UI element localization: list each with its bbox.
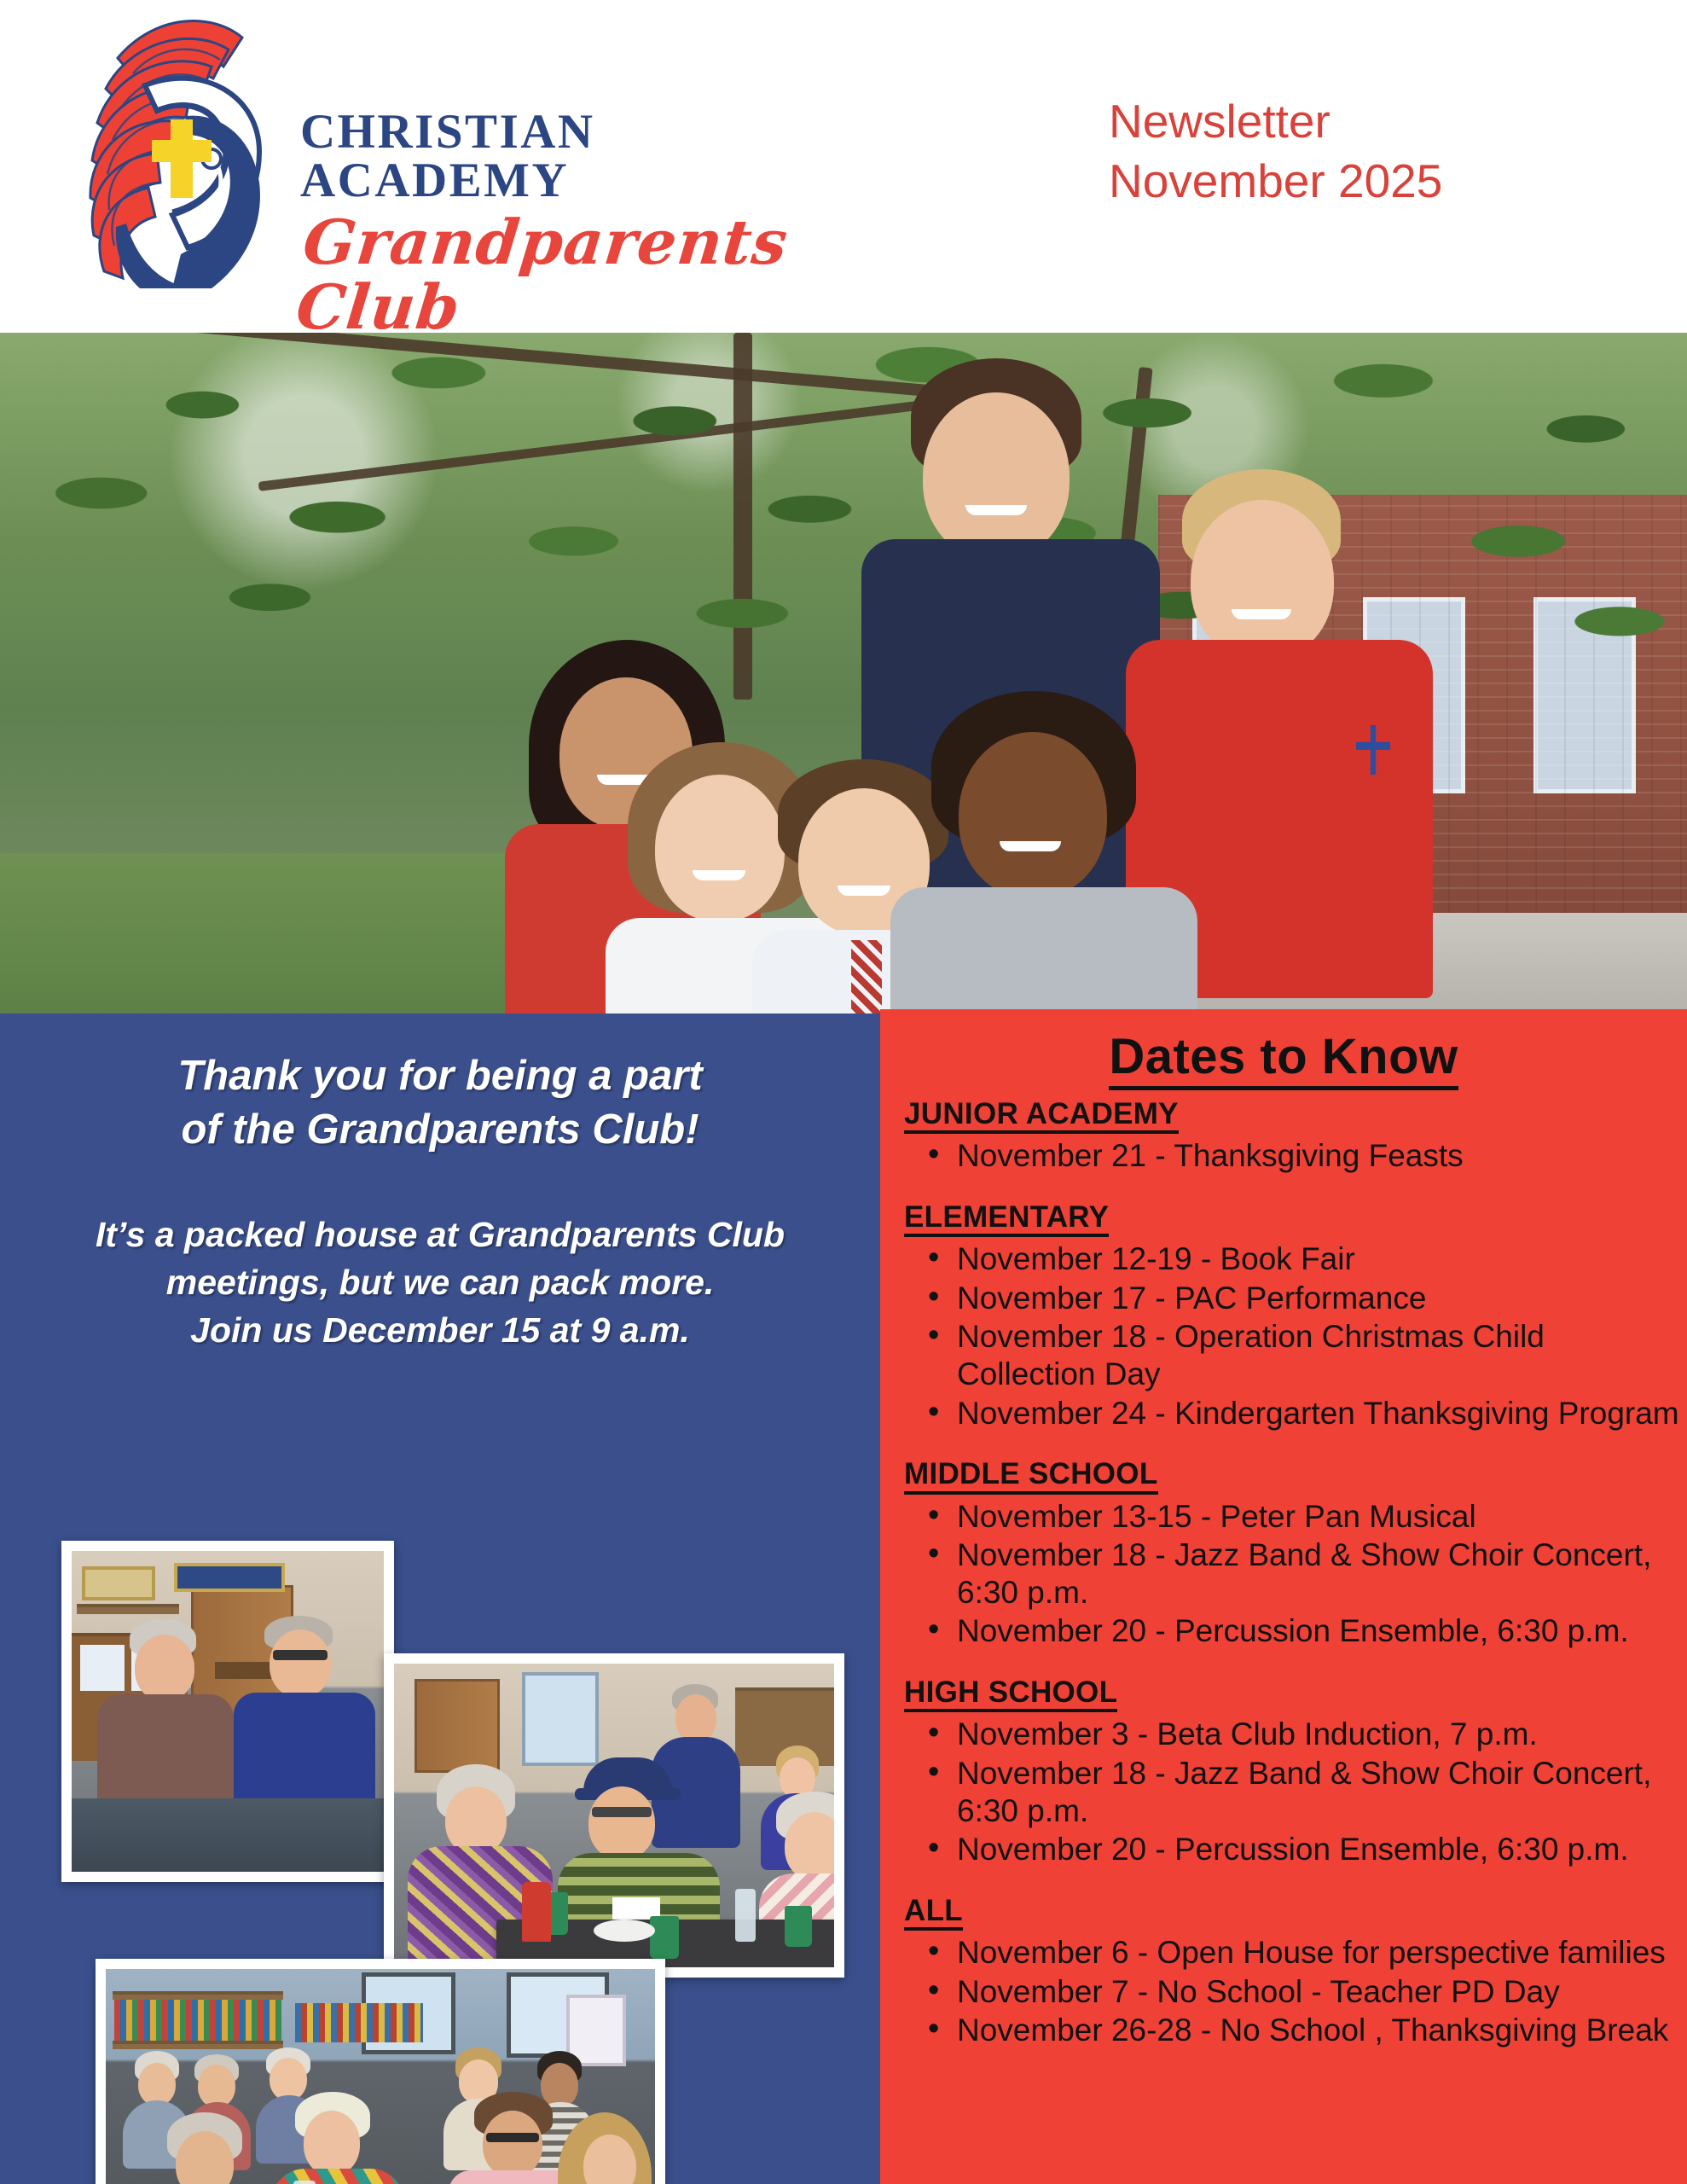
invite-line-1: It’s a packed house at Grandparents Club	[34, 1211, 846, 1259]
dates-to-know-title-text: Dates to Know	[1109, 1029, 1458, 1090]
brand-name-secondary: Grandparents Club	[293, 210, 853, 339]
date-item: November 18 - Jazz Band & Show Choir Con…	[904, 1536, 1687, 1611]
photo-two-men-talking	[61, 1541, 394, 1882]
date-item: November 13-15 - Peter Pan Musical	[904, 1498, 1687, 1536]
dates-category-items: November 21 - Thanksgiving Feasts	[904, 1137, 1687, 1175]
thank-you-message: Thank you for being a part of the Grandp…	[34, 1049, 846, 1156]
hero-tree-foliage	[0, 333, 1687, 734]
date-item: November 20 - Percussion Ensemble, 6:30 …	[904, 1612, 1687, 1650]
dates-category-heading: JUNIOR ACADEMY	[904, 1097, 1179, 1134]
date-item: November 18 - Jazz Band & Show Choir Con…	[904, 1755, 1687, 1829]
brand-lockup: CHRISTIAN ACADEMY Grandparents Club	[44, 7, 855, 288]
date-item: November 12-19 - Book Fair	[904, 1240, 1687, 1278]
hero-student-girl-gray-pullover	[904, 691, 1186, 1015]
masthead-title: Newsletter	[1109, 92, 1638, 152]
newsletter-header: CHRISTIAN ACADEMY Grandparents Club News…	[0, 0, 1687, 333]
thank-you-line-1: Thank you for being a part	[34, 1049, 846, 1103]
date-item: November 3 - Beta Club Induction, 7 p.m.	[904, 1716, 1687, 1753]
brand-wordmark: CHRISTIAN ACADEMY Grandparents Club	[300, 107, 846, 339]
masthead: Newsletter November 2025	[1109, 92, 1638, 212]
thank-you-line-2: of the Grandparents Club!	[34, 1103, 846, 1157]
date-item: November 6 - Open House for perspective …	[904, 1934, 1687, 1972]
date-item: November 21 - Thanksgiving Feasts	[904, 1137, 1687, 1175]
left-blue-panel: Thank you for being a part of the Grandp…	[0, 1014, 880, 2184]
date-item: November 17 - PAC Performance	[904, 1280, 1687, 1317]
masthead-date: November 2025	[1109, 152, 1638, 212]
hero-photo: WE ♥ CAL	[0, 333, 1687, 1015]
invite-line-3: Join us December 15 at 9 a.m.	[34, 1307, 846, 1355]
dates-category-heading: HIGH SCHOOL	[904, 1676, 1117, 1712]
date-item: November 7 - No School - Teacher PD Day	[904, 1973, 1687, 2011]
photo-library-gathering	[96, 1959, 665, 2184]
dates-category-items: November 12-19 - Book FairNovember 17 - …	[904, 1240, 1687, 1432]
dates-category: ELEMENTARYNovember 12-19 - Book FairNove…	[904, 1200, 1687, 1432]
photo-grandparents-at-tables	[384, 1653, 844, 1978]
dates-category-heading: ALL	[904, 1894, 963, 1931]
dates-to-know-panel: Dates to Know JUNIOR ACADEMY November 21…	[880, 1009, 1687, 2184]
newsletter-page: CHRISTIAN ACADEMY Grandparents Club News…	[0, 0, 1687, 2184]
dates-category: MIDDLE SCHOOL November 13-15 - Peter Pan…	[904, 1457, 1687, 1650]
dates-category-items: November 3 - Beta Club Induction, 7 p.m.…	[904, 1716, 1687, 1868]
dates-category-items: November 6 - Open House for perspective …	[904, 1934, 1687, 2049]
dates-category: JUNIOR ACADEMY November 21 - Thanksgivin…	[904, 1097, 1687, 1175]
dates-category-heading: MIDDLE SCHOOL	[904, 1457, 1158, 1494]
meeting-invite-message: It’s a packed house at Grandparents Club…	[34, 1211, 846, 1354]
date-item: November 20 - Percussion Ensemble, 6:30 …	[904, 1831, 1687, 1868]
date-item: November 24 - Kindergarten Thanksgiving …	[904, 1395, 1687, 1432]
invite-line-2: meetings, but we can pack more.	[34, 1259, 846, 1307]
date-item: November 18 - Operation Christmas Child …	[904, 1318, 1687, 1392]
brand-name-primary: CHRISTIAN ACADEMY	[300, 107, 846, 205]
dates-to-know-list: JUNIOR ACADEMY November 21 - Thanksgivin…	[880, 1097, 1687, 2049]
dates-to-know-title: Dates to Know	[880, 1028, 1687, 1085]
date-item: November 26-28 - No School , Thanksgivin…	[904, 2012, 1687, 2049]
dates-category: ALLNovember 6 - Open House for perspecti…	[904, 1894, 1687, 2049]
spartan-helmet-logo-icon	[44, 7, 292, 288]
dates-category-heading: ELEMENTARY	[904, 1200, 1109, 1237]
dates-category-items: November 13-15 - Peter Pan MusicalNovemb…	[904, 1498, 1687, 1651]
dates-category: HIGH SCHOOL November 3 - Beta Club Induc…	[904, 1676, 1687, 1868]
